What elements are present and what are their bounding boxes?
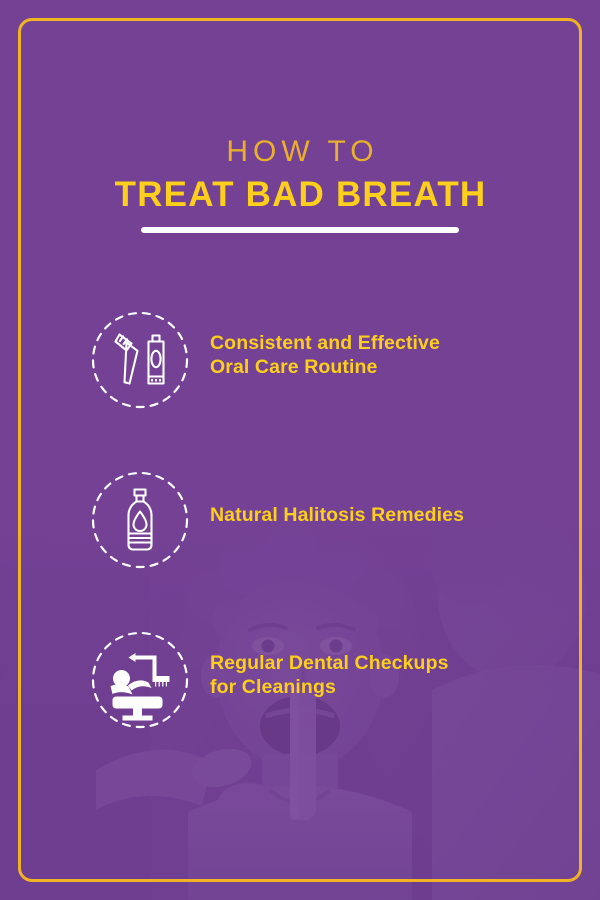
title-underline xyxy=(141,227,459,233)
toothbrush-and-toothpaste-icon xyxy=(90,310,190,410)
tips-list: Consistent and Effective Oral Care Routi… xyxy=(0,306,600,786)
list-item-label: Regular Dental Checkups for Cleanings xyxy=(210,651,540,699)
list-item: Natural Halitosis Remedies xyxy=(0,466,600,626)
poster-header: HOW TO TREAT BAD BREATH xyxy=(0,134,600,233)
tip-icon-badge xyxy=(90,310,190,410)
tip-icon-badge xyxy=(90,470,190,570)
dental-chair-icon xyxy=(90,630,190,730)
kicker-text: HOW TO xyxy=(0,134,600,170)
tip-icon-badge xyxy=(90,630,190,730)
list-item: Consistent and Effective Oral Care Routi… xyxy=(0,306,600,466)
page-title: TREAT BAD BREATH xyxy=(0,174,600,216)
infographic-poster: HOW TO TREAT BAD BREATH xyxy=(0,0,600,900)
water-bottle-icon xyxy=(90,470,190,570)
list-item-label: Consistent and Effective Oral Care Routi… xyxy=(210,331,540,379)
list-item: Regular Dental Checkups for Cleanings xyxy=(0,626,600,786)
list-item-label: Natural Halitosis Remedies xyxy=(210,503,540,527)
